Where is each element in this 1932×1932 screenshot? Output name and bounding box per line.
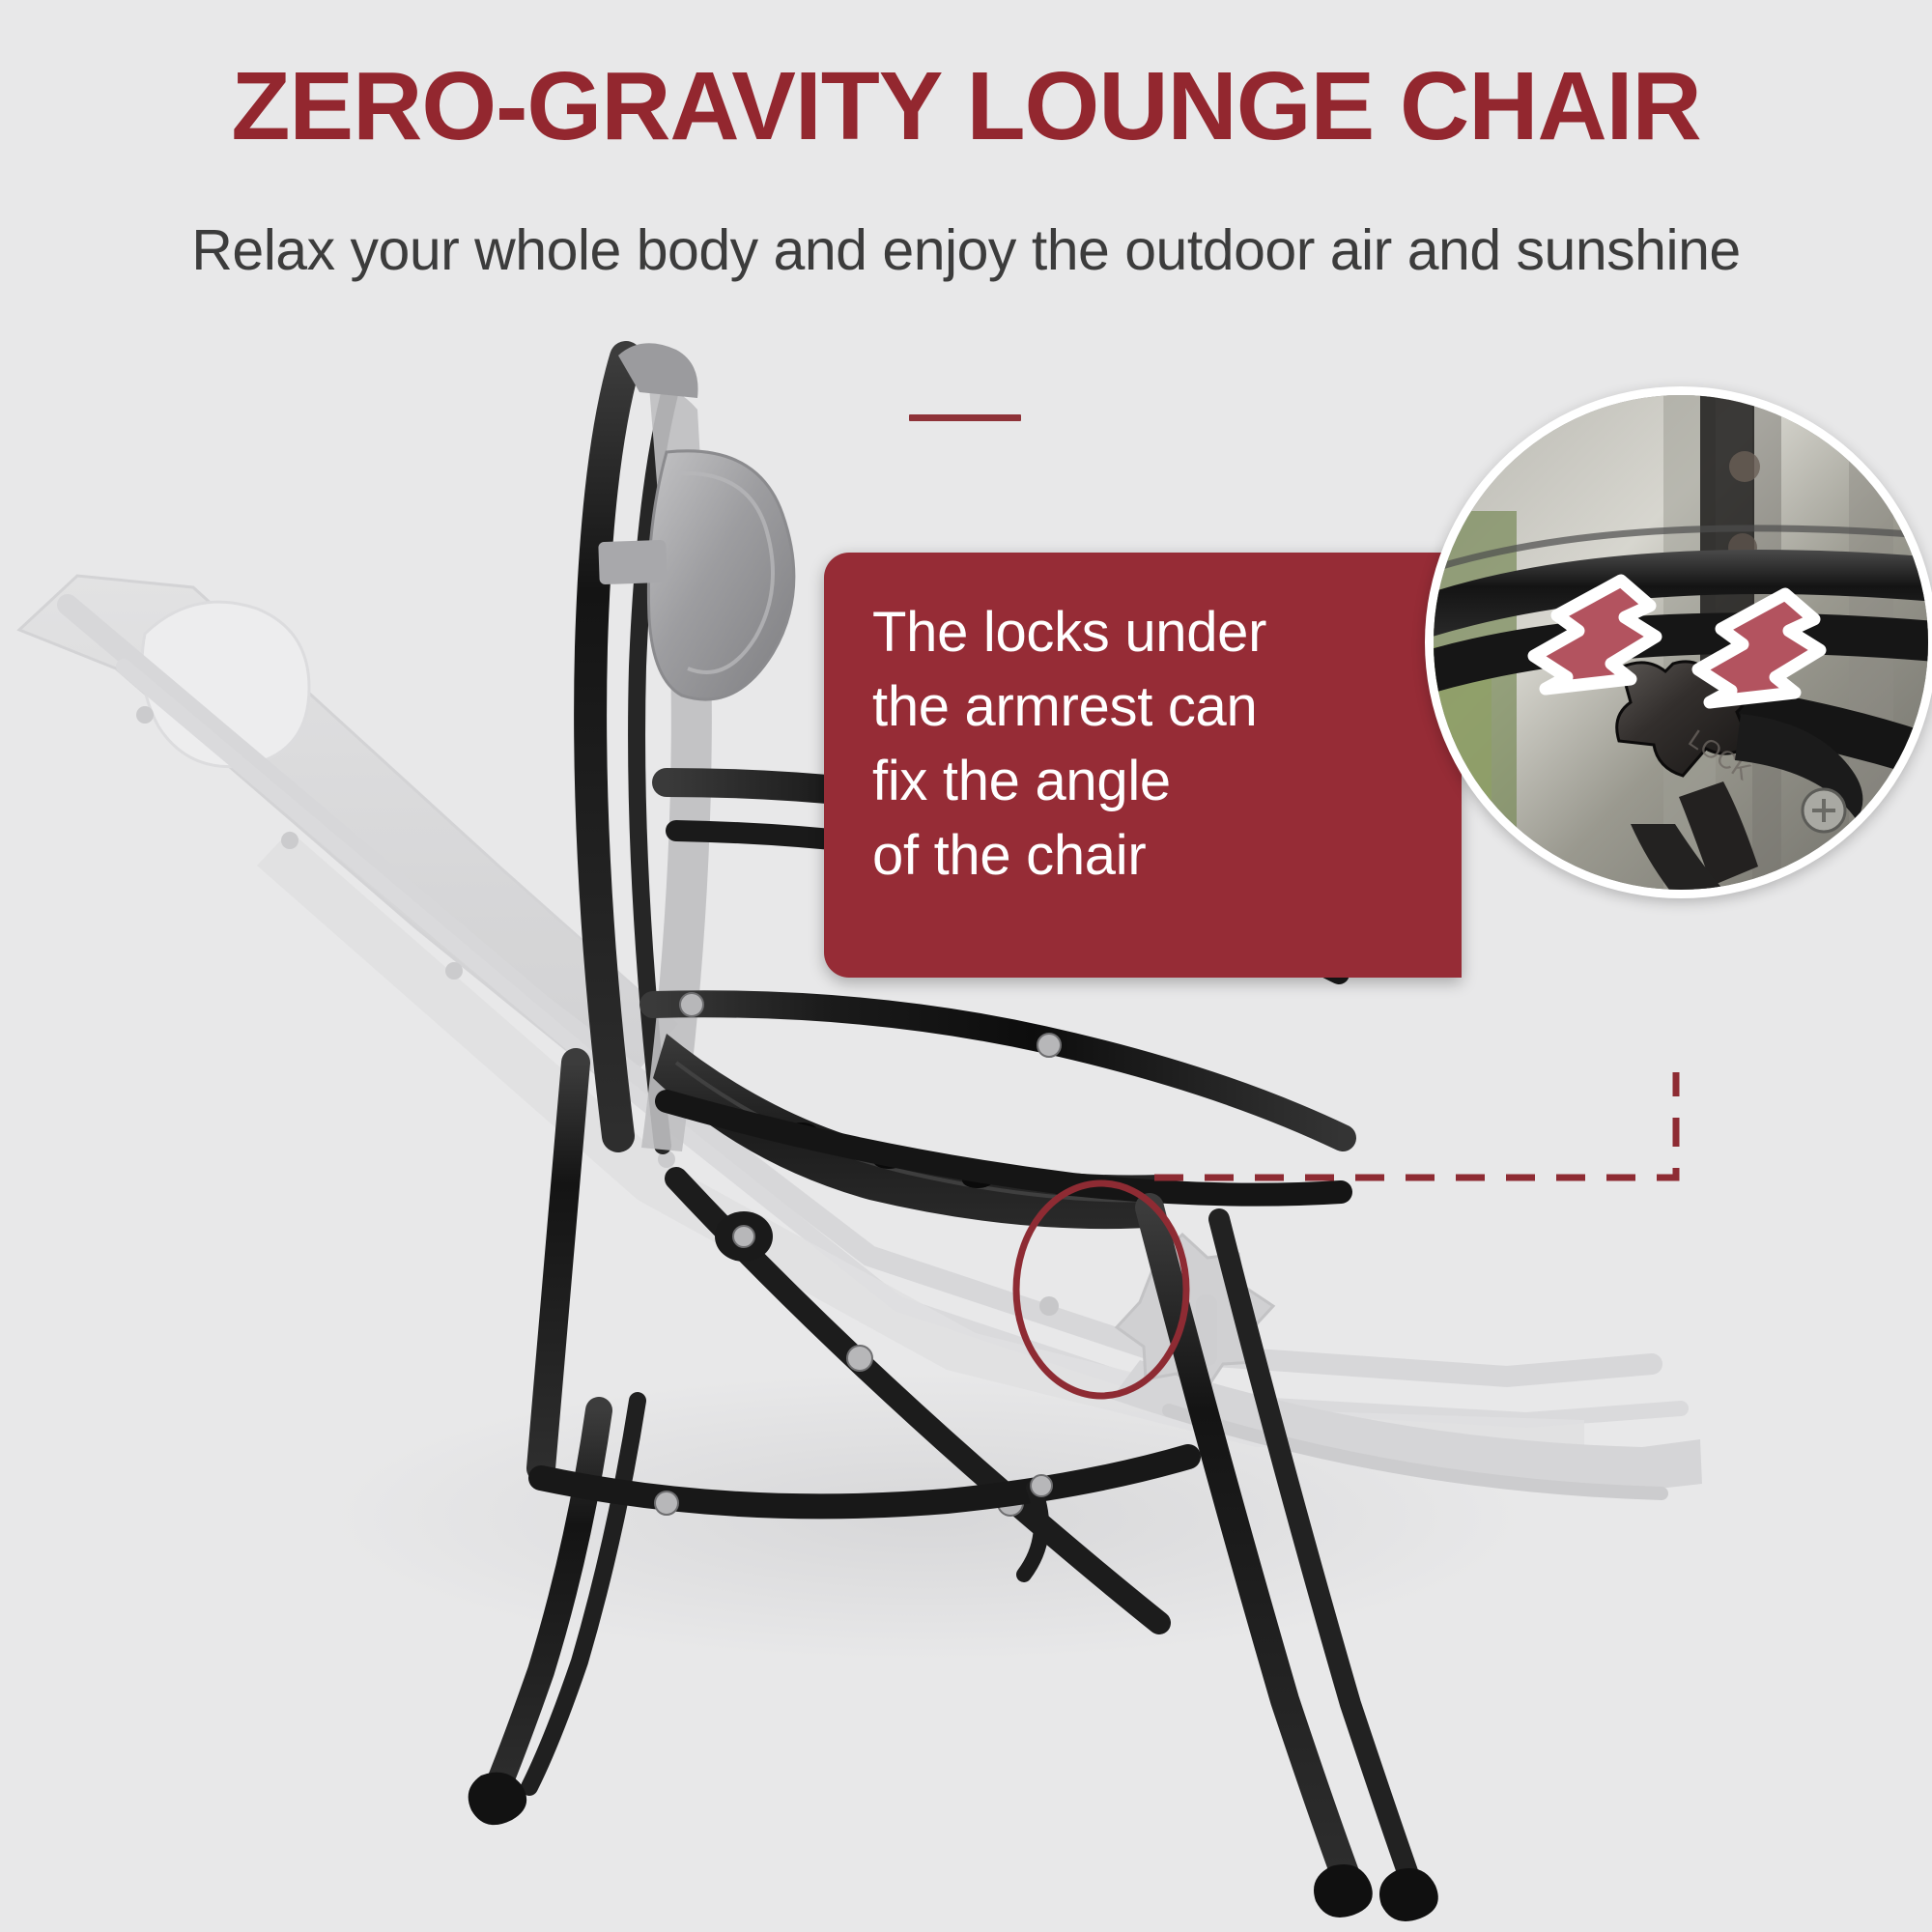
feature-callout-box: The locks under the armrest can fix the … — [824, 553, 1462, 978]
infographic-canvas: ZERO-GRAVITY LOUNGE CHAIR Relax your who… — [0, 0, 1932, 1932]
feature-callout-text: The locks under the armrest can fix the … — [872, 595, 1433, 894]
lock-detail-photo: LOCK — [1434, 395, 1928, 890]
lock-detail-inset: LOCK — [1425, 386, 1932, 898]
page-subtitle: Relax your whole body and enjoy the outd… — [0, 214, 1932, 287]
page-title: ZERO-GRAVITY LOUNGE CHAIR — [0, 56, 1932, 157]
